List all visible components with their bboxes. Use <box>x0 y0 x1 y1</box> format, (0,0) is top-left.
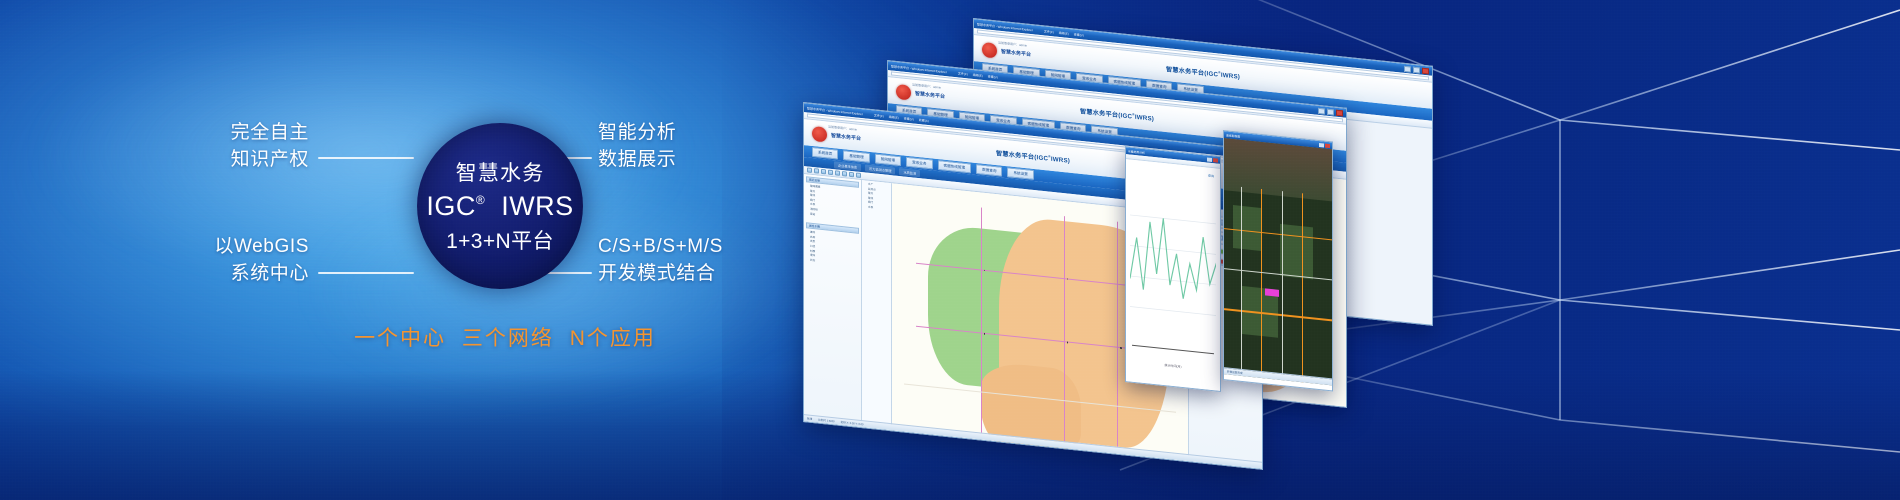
feature-bottom-left-line2: 系统中心 <box>179 261 309 288</box>
product-screenshot-stack: 智慧水务平台 - Windows Internet Explorer 文件(F)… <box>795 18 1355 438</box>
logo-text: 智慧水务平台 <box>831 131 861 141</box>
menu-edit[interactable]: 编辑(E) <box>973 72 983 77</box>
chart-window[interactable]: 水量趋势分析 查询 统计时间(月) <box>1125 146 1221 392</box>
chart-xlabel: 统计时间(月) <box>1126 359 1220 373</box>
sat-road-main <box>1261 189 1263 378</box>
feature-bottom-right-line1: C/S+B/S+M/S <box>598 234 723 261</box>
layer-icon[interactable] <box>849 172 854 178</box>
map-pipeline <box>981 208 982 432</box>
minimize-icon[interactable] <box>1318 107 1325 114</box>
window-controls[interactable] <box>1319 142 1330 147</box>
menu-view[interactable]: 查看(V) <box>988 74 998 79</box>
sat-road-main <box>1224 308 1332 321</box>
menu-file[interactable]: 文件(F) <box>1044 29 1054 34</box>
platform-title: 智慧水务平台(IGC®IWRS) <box>996 148 1070 165</box>
feature-top-left-line1: 完全自主 <box>179 120 309 147</box>
tagline-part-3: N个应用 <box>570 327 656 350</box>
zoom-in-icon[interactable] <box>814 168 819 174</box>
line-chart-svg <box>1130 191 1216 347</box>
menu-favorites[interactable]: 收藏(A) <box>919 118 929 123</box>
close-icon[interactable] <box>1325 143 1330 148</box>
identify-icon[interactable] <box>835 170 840 176</box>
maximize-icon[interactable] <box>1327 108 1334 115</box>
zoom-out-icon[interactable] <box>821 169 826 175</box>
feature-bottom-left: 以WebGIS 系统中心 <box>179 234 309 288</box>
chart-canvas: 查询 统计时间(月) <box>1126 159 1220 391</box>
feature-top-left-line2: 知识产权 <box>179 147 309 174</box>
pan-icon[interactable] <box>807 167 812 173</box>
feature-top-left: 完全自主 知识产权 <box>179 120 309 174</box>
logo-text: 智慧水务平台 <box>1001 47 1031 57</box>
minimize-icon[interactable] <box>1319 142 1324 147</box>
close-icon[interactable] <box>1336 109 1343 116</box>
hub-title-cn: 智慧水务 <box>456 157 545 187</box>
status-coords: 坐标 X: 0.00 Y: 0.00 <box>841 420 864 426</box>
sat-status-text: 影像加载完成 <box>1227 369 1243 375</box>
maximize-icon[interactable] <box>1413 66 1420 73</box>
hub-title-en-igc: IGC <box>426 191 476 221</box>
measure-icon[interactable] <box>828 170 833 176</box>
layer-panel[interactable]: 图层控制 管网图层 管点 管线 阀门 水表 消防栓 泵站 属性列表 编号 名称 … <box>804 174 862 435</box>
satellite-window-title: 遥感影像图 <box>1226 133 1240 138</box>
close-icon[interactable] <box>1213 158 1218 163</box>
menu-view[interactable]: 查看(V) <box>904 116 914 121</box>
status-ready: 就绪 <box>807 416 812 421</box>
satellite-window[interactable]: 遥感影像图 影像加载完成 <box>1223 130 1333 391</box>
tagline: 一个中心 三个网络 N个应用 <box>305 322 705 352</box>
menu-edit[interactable]: 编辑(E) <box>1059 30 1069 35</box>
sat-road-main <box>1302 193 1304 382</box>
company-logo-icon <box>982 41 997 58</box>
feature-top-right-line2: 数据展示 <box>598 147 676 174</box>
window-controls[interactable] <box>1207 157 1218 162</box>
tagline-part-1: 一个中心 <box>354 327 446 350</box>
close-icon[interactable] <box>1422 67 1429 74</box>
feature-bottom-right-line2: 开发模式结合 <box>598 261 723 288</box>
feature-bottom-right: C/S+B/S+M/S 开发模式结合 <box>598 234 723 288</box>
platform-title: 智慧水务平台(IGC®IWRS) <box>1166 64 1240 81</box>
tagline-part-2: 三个网络 <box>462 327 554 350</box>
menu-view[interactable]: 查看(V) <box>1074 32 1084 37</box>
minimize-icon[interactable] <box>1404 65 1411 72</box>
minimize-icon[interactable] <box>1207 157 1212 162</box>
legend-icon[interactable] <box>856 173 861 179</box>
logo-text: 智慧水务平台 <box>915 89 945 99</box>
company-logo-icon <box>812 125 827 142</box>
tool-panel[interactable]: 水厂 监测点 管点 管线 阀门 水表 <box>862 180 892 438</box>
feature-top-right-line1: 智能分析 <box>598 120 676 147</box>
status-scale: 比例尺 1:5000 <box>818 418 834 424</box>
chart-axis <box>1132 345 1215 355</box>
print-icon[interactable] <box>842 171 847 177</box>
sat-terrain-band <box>1224 138 1332 201</box>
hub-title-en-iwrs: IWRS <box>501 191 574 221</box>
hub-platform-label: 1+3+N平台 <box>446 225 554 255</box>
hub-title-en: IGC® IWRS <box>426 192 573 221</box>
registered-mark-icon: ® <box>476 193 485 207</box>
banner-stage: 智慧水务平台 - Windows Internet Explorer 文件(F)… <box>0 0 1900 500</box>
feature-top-right: 智能分析 数据展示 <box>598 120 676 174</box>
feature-bottom-left-line1: 以WebGIS <box>179 234 309 261</box>
connector-bottom-left <box>318 272 414 274</box>
satellite-map-canvas[interactable]: 影像加载完成 <box>1224 138 1332 385</box>
central-hub-circle: 智慧水务 IGC® IWRS 1+3+N平台 <box>417 123 583 289</box>
map-pipeline <box>1064 216 1065 440</box>
sat-selection-marker <box>1265 289 1279 297</box>
connector-top-left <box>318 157 414 159</box>
platform-title: 智慧水务平台(IGC®IWRS) <box>1080 106 1154 123</box>
menu-edit[interactable]: 编辑(E) <box>889 114 899 119</box>
map-pipeline <box>1117 222 1118 446</box>
company-logo-icon <box>896 83 911 100</box>
chart-search-label[interactable]: 查询 <box>1208 174 1214 179</box>
menu-file[interactable]: 文件(F) <box>874 113 884 118</box>
menu-file[interactable]: 文件(F) <box>958 71 968 76</box>
